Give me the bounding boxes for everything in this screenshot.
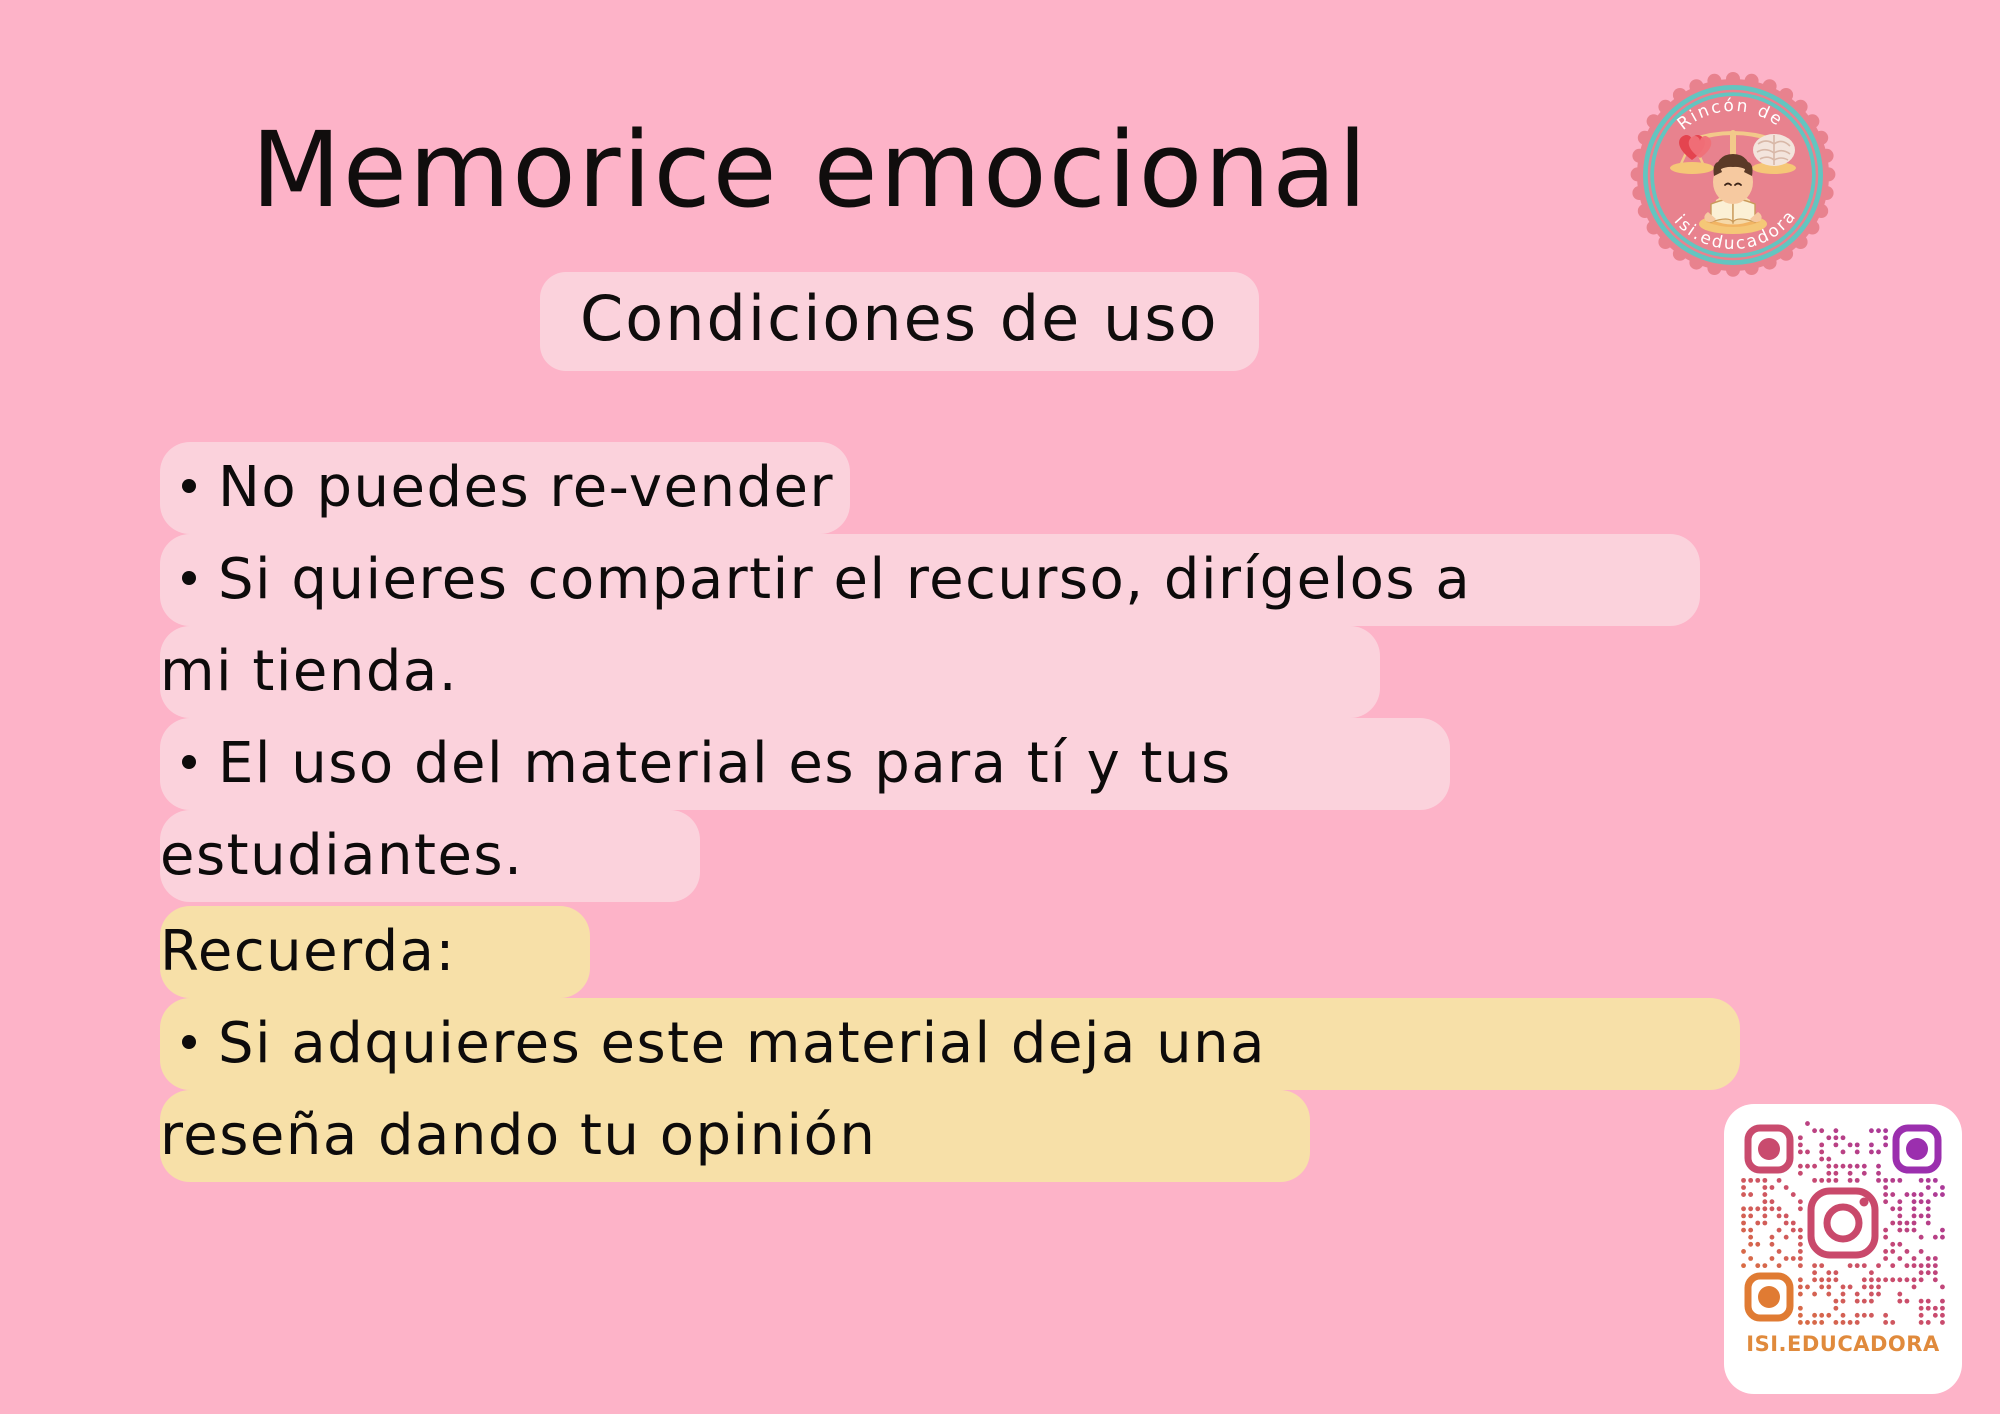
list-item-content: Si adquieres este material deja una [160, 998, 1266, 1090]
bullet-dot-icon [182, 571, 196, 585]
qr-finder-top-right [1896, 1128, 1938, 1170]
bullet-dot-icon [182, 755, 196, 769]
list-item: No puedes re-vender [160, 442, 1920, 534]
remember-section: Recuerda: Si adquieres este material dej… [160, 906, 1920, 1182]
list-item-label: mi tienda. [160, 639, 458, 704]
subtitle-container: Condiciones de uso [540, 272, 1259, 370]
list-item-continuation: estudiantes. [160, 810, 1920, 902]
list-item: Si adquieres este material deja una [160, 998, 1920, 1090]
qr-code[interactable] [1740, 1120, 1946, 1326]
list-item-label: Si quieres compartir el recurso, dirígel… [218, 547, 1471, 612]
qr-label: ISI.EDUCADORA [1746, 1332, 1939, 1356]
list-item-label: El uso del material es para tí y tus [218, 731, 1232, 796]
instagram-icon [1806, 1186, 1880, 1260]
list-item-content: No puedes re-vender [160, 442, 834, 534]
list-item-label: reseña dando tu opinión [160, 1103, 876, 1168]
list-item-content: reseña dando tu opinión [160, 1090, 876, 1182]
conditions-list: No puedes re-vender Si quieres compartir… [160, 442, 1920, 902]
remember-heading-row: Recuerda: [160, 906, 1920, 998]
list-item-content: estudiantes. [160, 810, 523, 902]
bullet-dot-icon [182, 1035, 196, 1049]
remember-heading-content: Recuerda: [160, 906, 456, 998]
list-item-label: estudiantes. [160, 823, 523, 888]
bullet-dot-icon [182, 479, 196, 493]
brain-icon [1753, 134, 1795, 166]
list-item: Si quieres compartir el recurso, dirígel… [160, 534, 1920, 626]
list-item-content: Si quieres compartir el recurso, dirígel… [160, 534, 1471, 626]
qr-finder-bottom-left [1748, 1276, 1790, 1318]
list-item-continuation: reseña dando tu opinión [160, 1090, 1920, 1182]
logo-svg: Rincón de isi.educadora [1630, 72, 1836, 278]
list-item: El uso del material es para tí y tus [160, 718, 1920, 810]
qr-svg [1740, 1120, 1946, 1326]
list-item-content: mi tienda. [160, 626, 458, 718]
list-item-continuation: mi tienda. [160, 626, 1920, 718]
remember-heading: Recuerda: [160, 919, 456, 984]
page-title: Memorice emocional [0, 118, 1620, 222]
list-item-content: El uso del material es para tí y tus [160, 718, 1232, 810]
list-item-label: Si adquieres este material deja una [218, 1011, 1266, 1076]
list-item-label: No puedes re-vender [218, 455, 834, 520]
brand-logo-badge: Rincón de isi.educadora [1630, 72, 1836, 278]
subtitle: Condiciones de uso [540, 272, 1259, 371]
instagram-qr-card[interactable]: ISI.EDUCADORA [1724, 1104, 1962, 1394]
qr-finder-top-left [1748, 1128, 1790, 1170]
